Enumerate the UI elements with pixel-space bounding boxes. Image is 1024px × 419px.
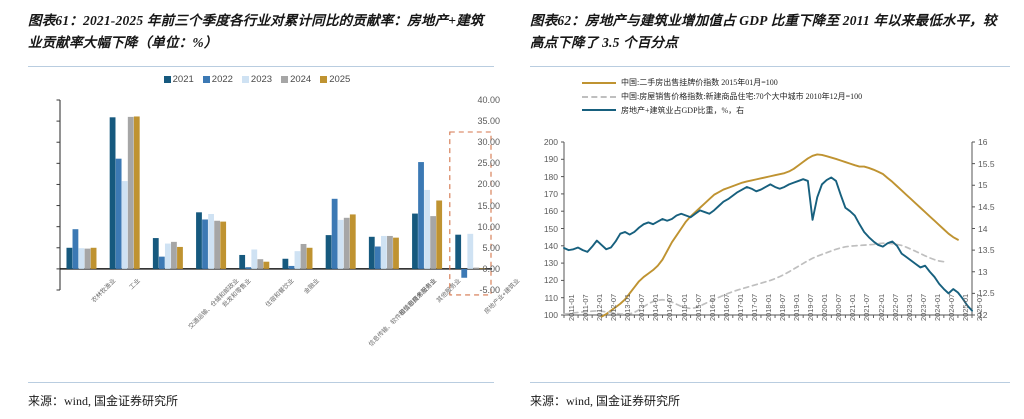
figure-62-source: 来源：wind, 国金证券研究所: [530, 392, 680, 409]
line-x-tick-label: 2015-07: [694, 294, 703, 321]
line-x-tick-label: 2023-01: [905, 294, 914, 321]
line-right-axis-tick-label: 13.5: [978, 245, 995, 255]
line-x-tick-label: 2023-07: [919, 294, 928, 321]
line-left-axis-tick-label: 200: [520, 137, 558, 147]
line-x-tick-label: 2015-01: [680, 294, 689, 321]
figure-62-title: 图表62：房地产与建筑业增加值占 GDP 比重下降至 2011 年以来最低水平，…: [530, 10, 1010, 55]
figure-62-panel: 图表62：房地产与建筑业增加值占 GDP 比重下降至 2011 年以来最低水平，…: [512, 0, 1024, 419]
line-x-tick-label: 2025-01: [961, 294, 970, 321]
line-x-tick-label: 2019-07: [806, 294, 815, 321]
bar-y-tick-label: -5.00: [458, 285, 500, 295]
line-left-axis-tick-label: 150: [520, 224, 558, 234]
line-x-tick-label: 2020-07: [834, 294, 843, 321]
line-x-tick-label: 2022-07: [891, 294, 900, 321]
line-x-tick-label: 2025-07: [975, 294, 984, 321]
line-x-tick-label: 2022-01: [877, 294, 886, 321]
line-left-axis-tick-label: 130: [520, 258, 558, 268]
line-chart-labels: 1001101201301401501601701801902001212.51…: [520, 72, 1020, 347]
line-x-tick-label: 2016-07: [722, 294, 731, 321]
bar-y-tick-label: 5.00: [458, 243, 500, 253]
bar-y-tick-label: 20.00: [458, 179, 500, 189]
figure-61-title-rule: [28, 66, 494, 67]
line-x-tick-label: 2013-01: [623, 294, 632, 321]
bar-y-tick-label: 15.00: [458, 201, 500, 211]
line-x-tick-label: 2021-07: [862, 294, 871, 321]
line-chart: 中国:二手房出售挂牌价指数 2015年01月=100中国:房屋销售价格指数:新建…: [520, 72, 1020, 347]
line-x-tick-label: 2017-07: [750, 294, 759, 321]
line-x-tick-label: 2012-07: [609, 294, 618, 321]
line-x-tick-label: 2016-01: [708, 294, 717, 321]
line-left-axis-tick-label: 110: [520, 293, 558, 303]
line-x-tick-label: 2021-01: [848, 294, 857, 321]
line-left-axis-tick-label: 190: [520, 154, 558, 164]
figure-page: 图表61：2021-2025 年前三个季度各行业对累计同比的贡献率：房地产+建筑…: [0, 0, 1024, 419]
line-right-axis-tick-label: 14: [978, 224, 987, 234]
bar-y-tick-label: 30.00: [458, 137, 500, 147]
bar-chart: 20212022202320242025 -5.000.005.0010.001…: [14, 72, 500, 342]
line-x-tick-label: 2011-07: [581, 294, 590, 321]
line-x-tick-label: 2018-01: [764, 294, 773, 321]
line-x-tick-label: 2014-07: [665, 294, 674, 321]
figure-62-title-rule: [530, 66, 1010, 67]
line-left-axis-tick-label: 170: [520, 189, 558, 199]
line-x-tick-label: 2020-01: [820, 294, 829, 321]
line-x-tick-label: 2024-07: [947, 294, 956, 321]
line-x-tick-label: 2024-01: [933, 294, 942, 321]
line-right-axis-tick-label: 15: [978, 180, 987, 190]
bar-x-category-label: 金融业: [301, 276, 320, 295]
bar-x-category-label: 住宿和餐饮业: [263, 276, 296, 309]
figure-61-title: 图表61：2021-2025 年前三个季度各行业对累计同比的贡献率：房地产+建筑…: [28, 10, 494, 55]
line-left-axis-tick-label: 120: [520, 275, 558, 285]
line-x-tick-label: 2014-01: [651, 294, 660, 321]
line-x-tick-label: 2011-01: [567, 294, 576, 321]
bar-y-tick-label: 35.00: [458, 116, 500, 126]
line-left-axis-tick-label: 140: [520, 241, 558, 251]
line-x-tick-label: 2012-01: [595, 294, 604, 321]
line-right-axis-tick-label: 16: [978, 137, 987, 147]
line-x-tick-label: 2013-07: [637, 294, 646, 321]
line-left-axis-tick-label: 160: [520, 206, 558, 216]
line-right-axis-tick-label: 15.5: [978, 159, 995, 169]
line-x-tick-label: 2019-01: [792, 294, 801, 321]
line-left-axis-tick-label: 100: [520, 310, 558, 320]
line-x-tick-label: 2017-01: [736, 294, 745, 321]
figure-62-source-rule: [530, 382, 1010, 383]
bar-y-tick-label: 10.00: [458, 222, 500, 232]
bar-x-category-label: 租赁和商务服务业: [396, 276, 437, 317]
line-right-axis-tick-label: 13: [978, 267, 987, 277]
figure-61-source: 来源：wind, 国金证券研究所: [28, 392, 178, 409]
bar-y-tick-label: 25.00: [458, 158, 500, 168]
figure-61-source-rule: [28, 382, 494, 383]
line-left-axis-tick-label: 180: [520, 172, 558, 182]
line-right-axis-tick-label: 14.5: [978, 202, 995, 212]
line-x-tick-label: 2018-07: [778, 294, 787, 321]
bar-x-category-label: 农林牧渔业: [89, 276, 117, 304]
bar-x-category-label: 交通运输、仓储和邮政业: [186, 276, 240, 330]
bar-chart-labels: -5.000.005.0010.0015.0020.0025.0030.0035…: [14, 72, 500, 342]
bar-x-category-label: 工业: [126, 276, 141, 291]
bar-y-tick-label: 0.00: [458, 264, 500, 274]
figure-61-panel: 图表61：2021-2025 年前三个季度各行业对累计同比的贡献率：房地产+建筑…: [0, 0, 512, 419]
bar-y-tick-label: 40.00: [458, 95, 500, 105]
